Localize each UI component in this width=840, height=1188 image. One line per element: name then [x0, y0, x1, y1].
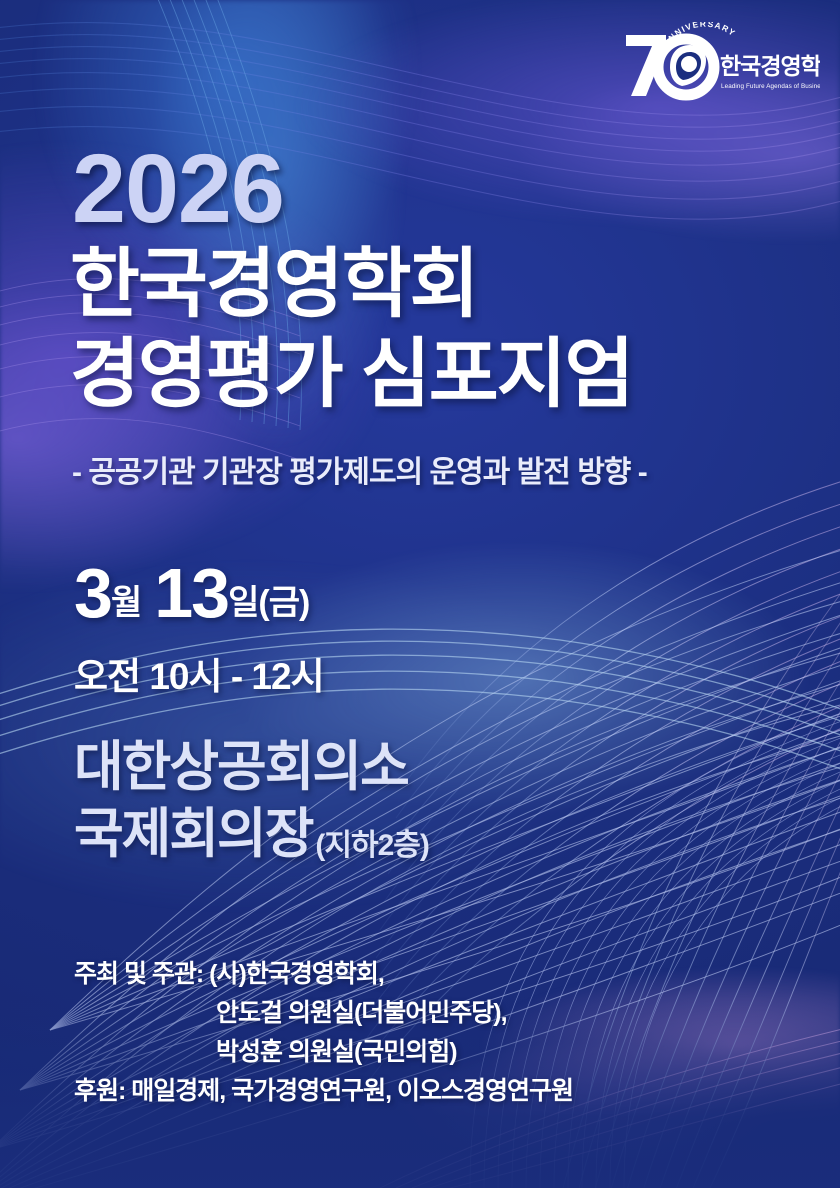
poster-title-line-2: 경영평가 심포지엄 — [70, 337, 632, 413]
organizer-block: 주최 및 주관: (사)한국경영학회, 안도걸 의원실(더불어민주당), 박성훈… — [0, 955, 700, 1111]
association-logo: ANNIVERSARY 한국경영학회 Leading Future Agenda… — [620, 22, 820, 102]
venue-hall-name: 국제회의장 — [74, 789, 312, 868]
logo-org-name: 한국경영학회 — [720, 53, 820, 79]
event-day-number: 13 — [154, 563, 228, 623]
wave-moire-mid-right — [470, 700, 840, 1188]
event-date: 3 월 13 일(금) — [74, 563, 309, 623]
organizer-line-1: 주최 및 주관: (사)한국경영학회, — [0, 955, 700, 994]
venue-floor: (지하2층) — [312, 820, 428, 868]
logo-tagline: Leading Future Agendas of Business & Soc… — [721, 83, 820, 90]
organizer-line-3: 박성훈 의원실(국민의힘) — [0, 1033, 700, 1072]
organizer-line-4: 후원: 매일경제, 국가경영연구원, 이오스경영연구원 — [0, 1072, 700, 1111]
symposium-poster: ANNIVERSARY 한국경영학회 Leading Future Agenda… — [0, 0, 840, 1188]
event-year: 2026 — [72, 143, 284, 235]
poster-title-line-1: 한국경영학회 — [70, 247, 478, 323]
organizer-line-2: 안도걸 의원실(더불어민주당), — [0, 994, 700, 1033]
venue-hall: 국제회의장 (지하2층) — [74, 789, 429, 868]
event-day-unit: 일(금) — [228, 586, 309, 623]
event-month-number: 3 — [74, 563, 111, 623]
poster-subtitle: - 공공기관 기관장 평가제도의 운영과 발전 방향 - — [72, 447, 647, 491]
event-time: 오전 10시 - 12시 — [74, 646, 324, 700]
event-month-unit: 월 — [111, 586, 141, 623]
